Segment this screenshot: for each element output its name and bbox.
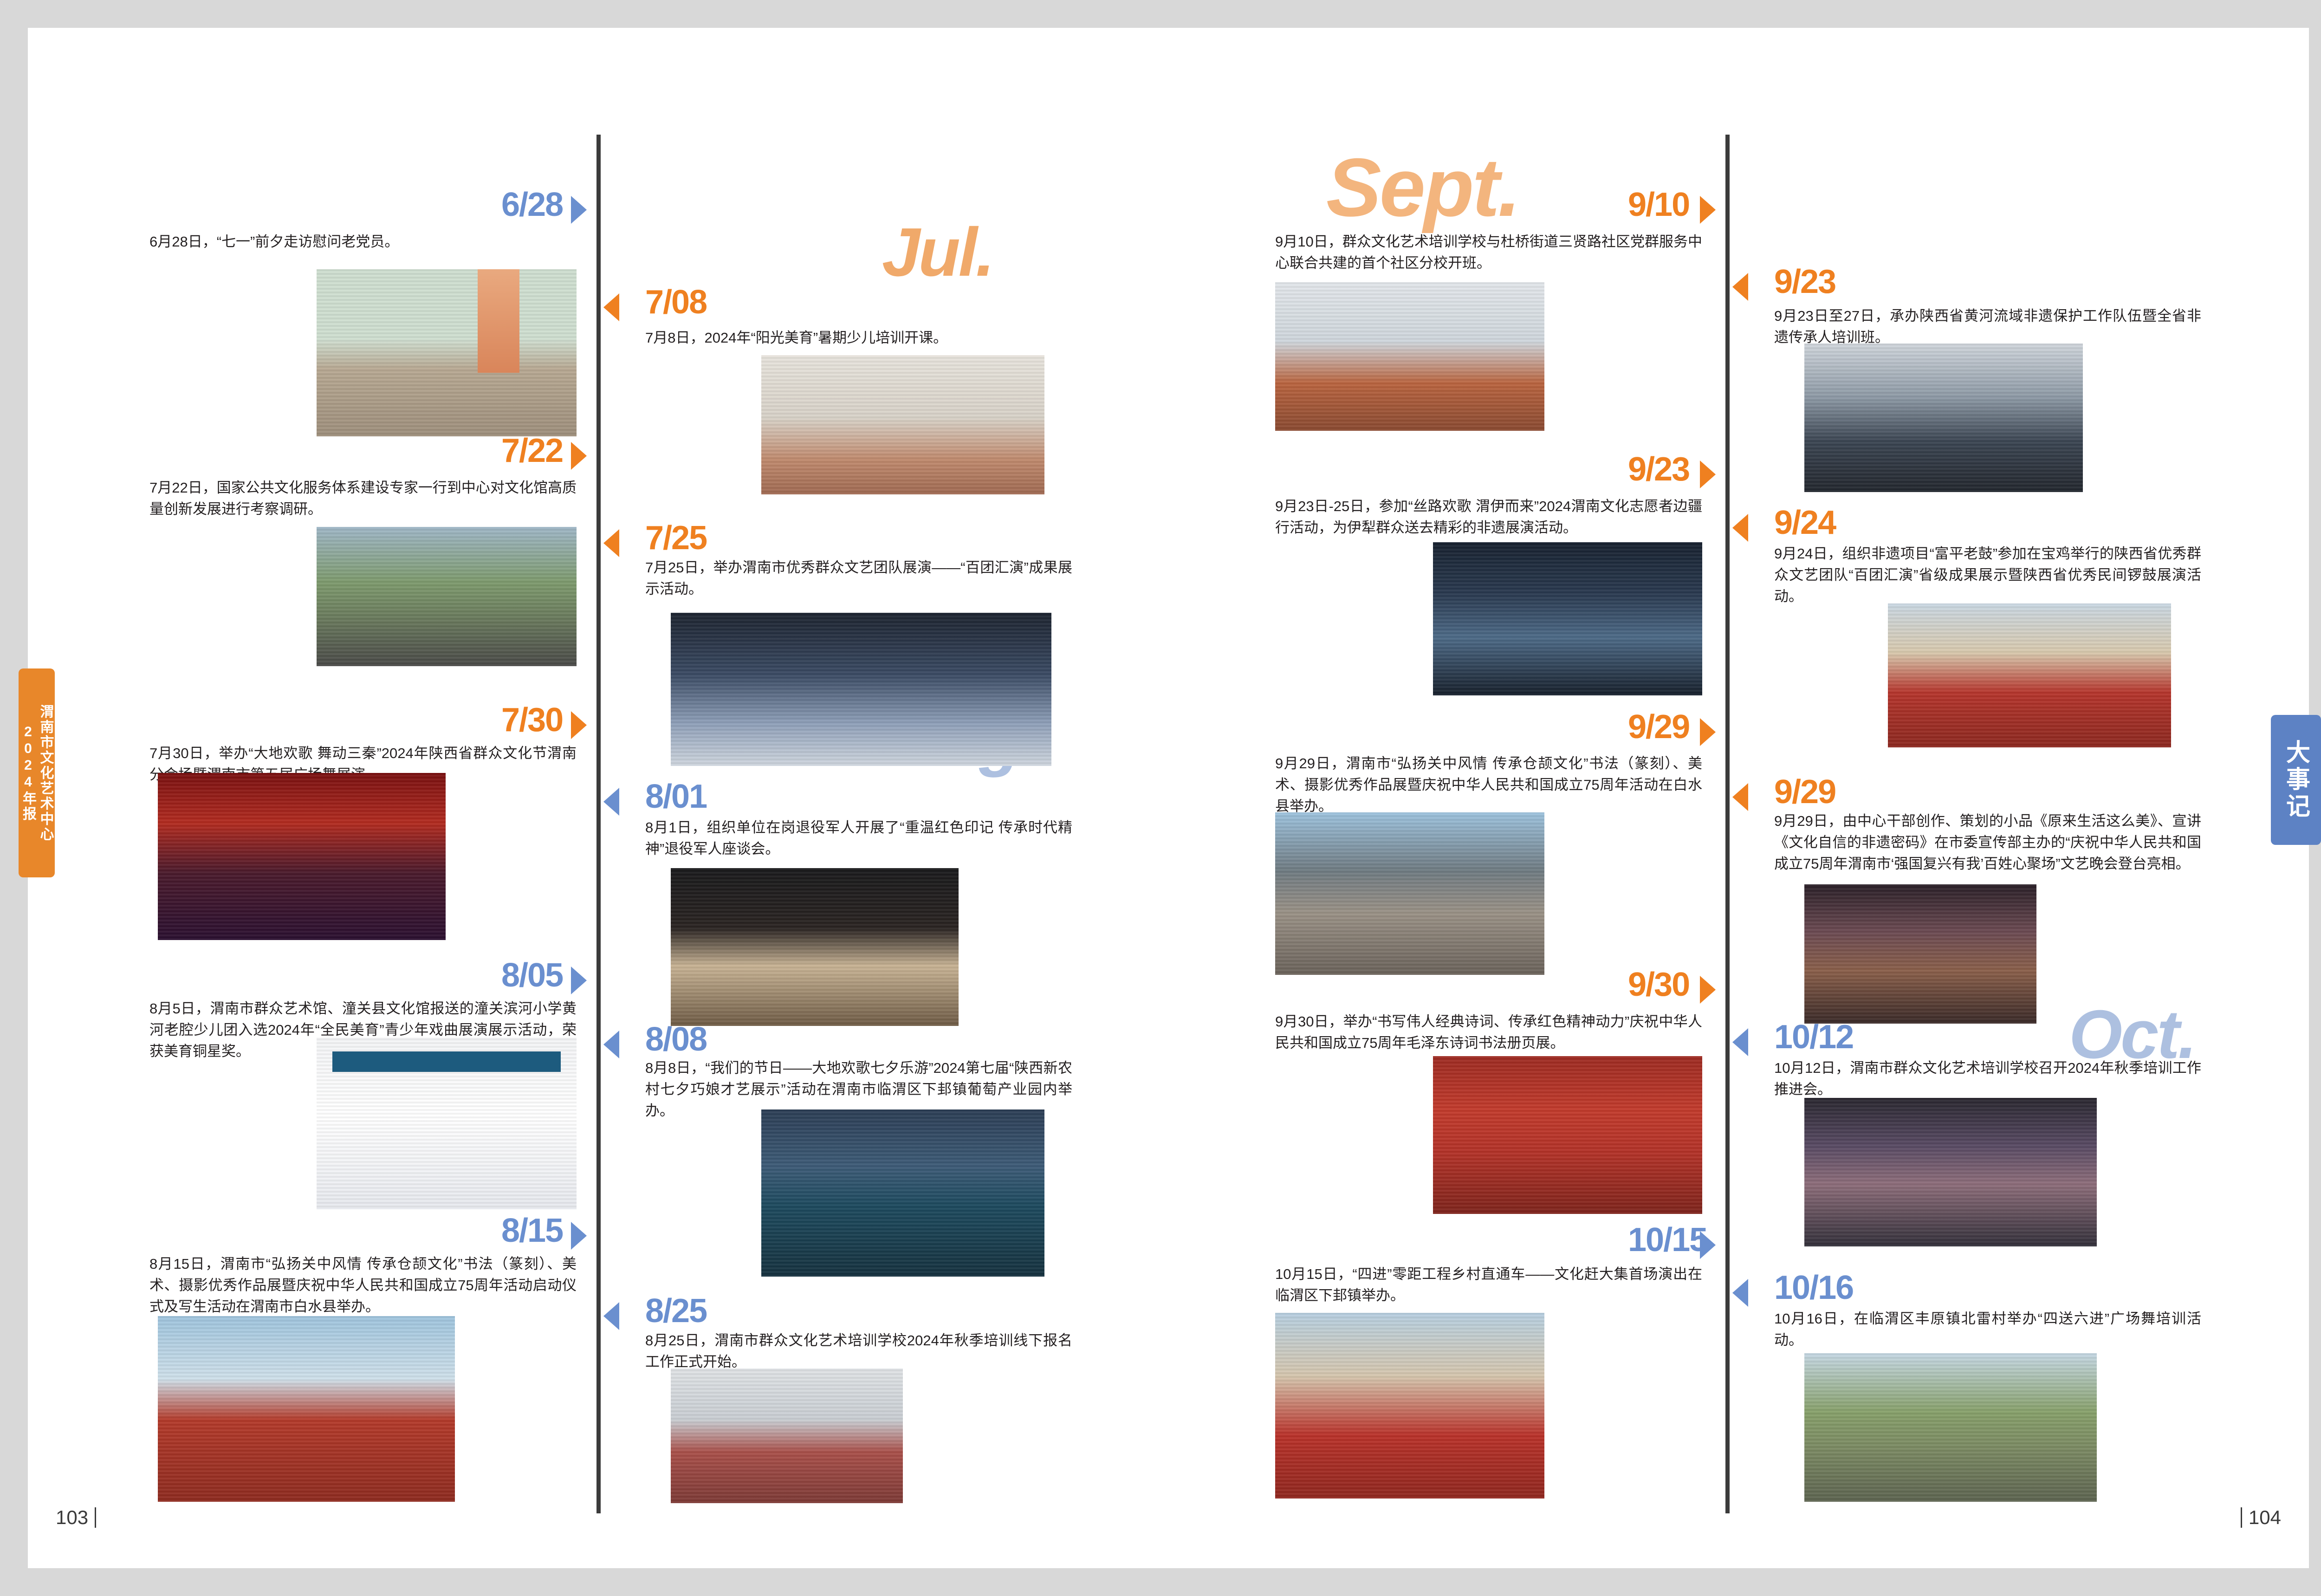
entry-photo (1275, 282, 1544, 431)
entry-photo (1804, 1098, 2097, 1246)
marker-arrow-icon (1700, 196, 1716, 224)
marker-arrow-icon (1732, 273, 1748, 301)
entry-caption: 10月16日，在临渭区丰原镇北雷村举办“四送六进”广场舞培训活动。 (1774, 1308, 2201, 1351)
entry-date: 7/22 (501, 434, 563, 467)
marker-arrow-icon (1700, 976, 1716, 1004)
entry-date: 9/23 (1628, 453, 1689, 486)
entry-caption: 9月30日，举办“书写伟人经典诗词、传承红色精神动力”庆祝中华人民共和国成立75… (1275, 1011, 1702, 1054)
entry-date: 7/30 (501, 703, 563, 737)
entry-photo (158, 773, 446, 940)
entry-date: 8/05 (501, 959, 563, 992)
page-right: Sept. Oct. 9/10 9月10日，群众文化艺术培训学校与杜桥街道三贤路… (1168, 28, 2309, 1568)
entry-date: 8/15 (501, 1214, 563, 1247)
entry-date: 9/29 (1628, 710, 1689, 744)
entry-caption: 7月25日，举办渭南市优秀群众文艺团队展演——“百团汇演”成果展示活动。 (645, 557, 1072, 600)
timeline-axis-right (1725, 135, 1730, 1513)
entry-caption: 10月15日，“四进”零距工程乡村直通车——文化赶大集首场演出在临渭区下邽镇举办… (1275, 1264, 1702, 1306)
entry-photo (671, 868, 959, 1026)
marker-arrow-icon (603, 1031, 619, 1058)
entry-photo (1804, 1353, 2097, 1502)
entry-caption: 6月28日，“七一”前夕走访慰问老党员。 (149, 231, 577, 253)
entry-date: 9/23 (1774, 265, 1835, 298)
marker-arrow-icon (603, 1302, 619, 1330)
month-label-sept: Sept. (1326, 146, 1519, 229)
entry-date: 8/25 (645, 1294, 707, 1328)
entry-caption: 8月25日，渭南市群众文化艺术培训学校2024年秋季培训线下报名工作正式开始。 (645, 1330, 1072, 1373)
entry-photo (1275, 1313, 1544, 1499)
marker-arrow-icon (1732, 1028, 1748, 1056)
entry-caption: 9月29日，渭南市“弘扬关中风情 传承仓颉文化”书法（篆刻）、美术、摄影优秀作品… (1275, 753, 1702, 817)
month-label-jul: Jul. (882, 218, 993, 287)
entry-caption: 7月22日，国家公共文化服务体系建设专家一行到中心对文化馆高质量创新发展进行考察… (149, 477, 577, 520)
entry-photo (761, 355, 1044, 494)
marker-arrow-icon (603, 788, 619, 816)
marker-arrow-icon (571, 1222, 587, 1250)
entry-photo (1275, 812, 1544, 975)
entry-date: 9/30 (1628, 968, 1689, 1001)
entry-date: 9/24 (1774, 506, 1835, 539)
entry-caption: 9月24日，组织非遗项目“富平老鼓”参加在宝鸡举行的陕西省优秀群众文艺团队“百团… (1774, 543, 2201, 607)
entry-date: 9/29 (1774, 775, 1835, 809)
timeline-axis-left (596, 135, 601, 1513)
entry-date: 10/15 (1628, 1223, 1707, 1257)
marker-arrow-icon (571, 442, 587, 470)
entry-caption: 9月10日，群众文化艺术培训学校与杜桥街道三贤路社区党群服务中心联合共建的首个社… (1275, 231, 1702, 274)
entry-photo (1804, 884, 2036, 1024)
entry-photo (761, 1109, 1044, 1277)
marker-arrow-icon (1732, 1279, 1748, 1307)
marker-arrow-icon (571, 711, 587, 739)
marker-arrow-icon (603, 529, 619, 557)
entry-caption: 8月15日，渭南市“弘扬关中风情 传承仓颉文化”书法（篆刻）、美术、摄影优秀作品… (149, 1253, 577, 1317)
entry-date: 7/25 (645, 521, 707, 555)
entry-date: 8/08 (645, 1023, 707, 1056)
marker-arrow-icon (571, 967, 587, 994)
marker-arrow-icon (1700, 718, 1716, 746)
entry-photo (317, 269, 577, 436)
entry-photo (317, 1038, 577, 1209)
page-left: Jul. Aug. 6/28 6月28日，“七一”前夕走访慰问老党员。 7/22… (28, 28, 1168, 1568)
marker-arrow-icon (571, 196, 587, 224)
entry-photo (1433, 542, 1702, 695)
folio-number: 103 (56, 1506, 88, 1528)
entry-date: 9/10 (1628, 188, 1689, 221)
entry-photo (1804, 344, 2083, 492)
entry-caption: 10月12日，渭南市群众文化艺术培训学校召开2024年秋季培训工作推进会。 (1774, 1058, 2201, 1100)
page-number-left: 103 (56, 1506, 103, 1529)
side-tab-label: 大事记 (2279, 740, 2314, 820)
side-tab-publication[interactable]: 2024年报 渭南市文化艺术中心 (19, 668, 55, 877)
entry-photo (671, 613, 1051, 766)
entry-caption: 7月8日，2024年“阳光美育”暑期少儿培训开课。 (645, 327, 1072, 349)
side-tab-line-2: 渭南市文化艺术中心 (37, 704, 54, 842)
side-tab-section-chronicle[interactable]: 大事记 (2271, 715, 2321, 845)
entry-caption: 9月23日至27日，承办陕西省黄河流域非遗保护工作队伍暨全省非遗传承人培训班。 (1774, 305, 2201, 348)
marker-arrow-icon (1732, 783, 1748, 811)
marker-arrow-icon (603, 293, 619, 321)
entry-date: 6/28 (501, 188, 563, 221)
entry-caption: 8月1日，组织单位在岗退役军人开展了“重温红色印记 传承时代精神”退役军人座谈会… (645, 817, 1072, 860)
entry-photo (317, 527, 577, 666)
marker-arrow-icon (1732, 514, 1748, 542)
entry-date: 10/12 (1774, 1020, 1853, 1054)
entry-caption: 9月29日，由中心干部创作、策划的小品《原来生活这么美》、宣讲《文化自信的非遗密… (1774, 811, 2201, 875)
folio-number: 104 (2249, 1506, 2281, 1528)
entry-date: 7/08 (645, 285, 707, 319)
magazine-spread: Jul. Aug. 6/28 6月28日，“七一”前夕走访慰问老党员。 7/22… (0, 0, 2321, 1596)
marker-arrow-icon (1700, 1231, 1716, 1259)
entry-photo (158, 1316, 455, 1502)
side-tab-line-1: 2024年报 (19, 724, 37, 822)
entry-caption: 9月23日-25日，参加“丝路欢歌 渭伊而来”2024渭南文化志愿者边疆行活动，… (1275, 496, 1702, 538)
entry-photo (671, 1369, 903, 1503)
entry-photo (1433, 1056, 1702, 1214)
entry-photo (1888, 603, 2171, 747)
page-number-right: 104 (2234, 1506, 2281, 1529)
entry-date: 10/16 (1774, 1271, 1853, 1304)
entry-date: 8/01 (645, 780, 707, 813)
marker-arrow-icon (1700, 461, 1716, 488)
